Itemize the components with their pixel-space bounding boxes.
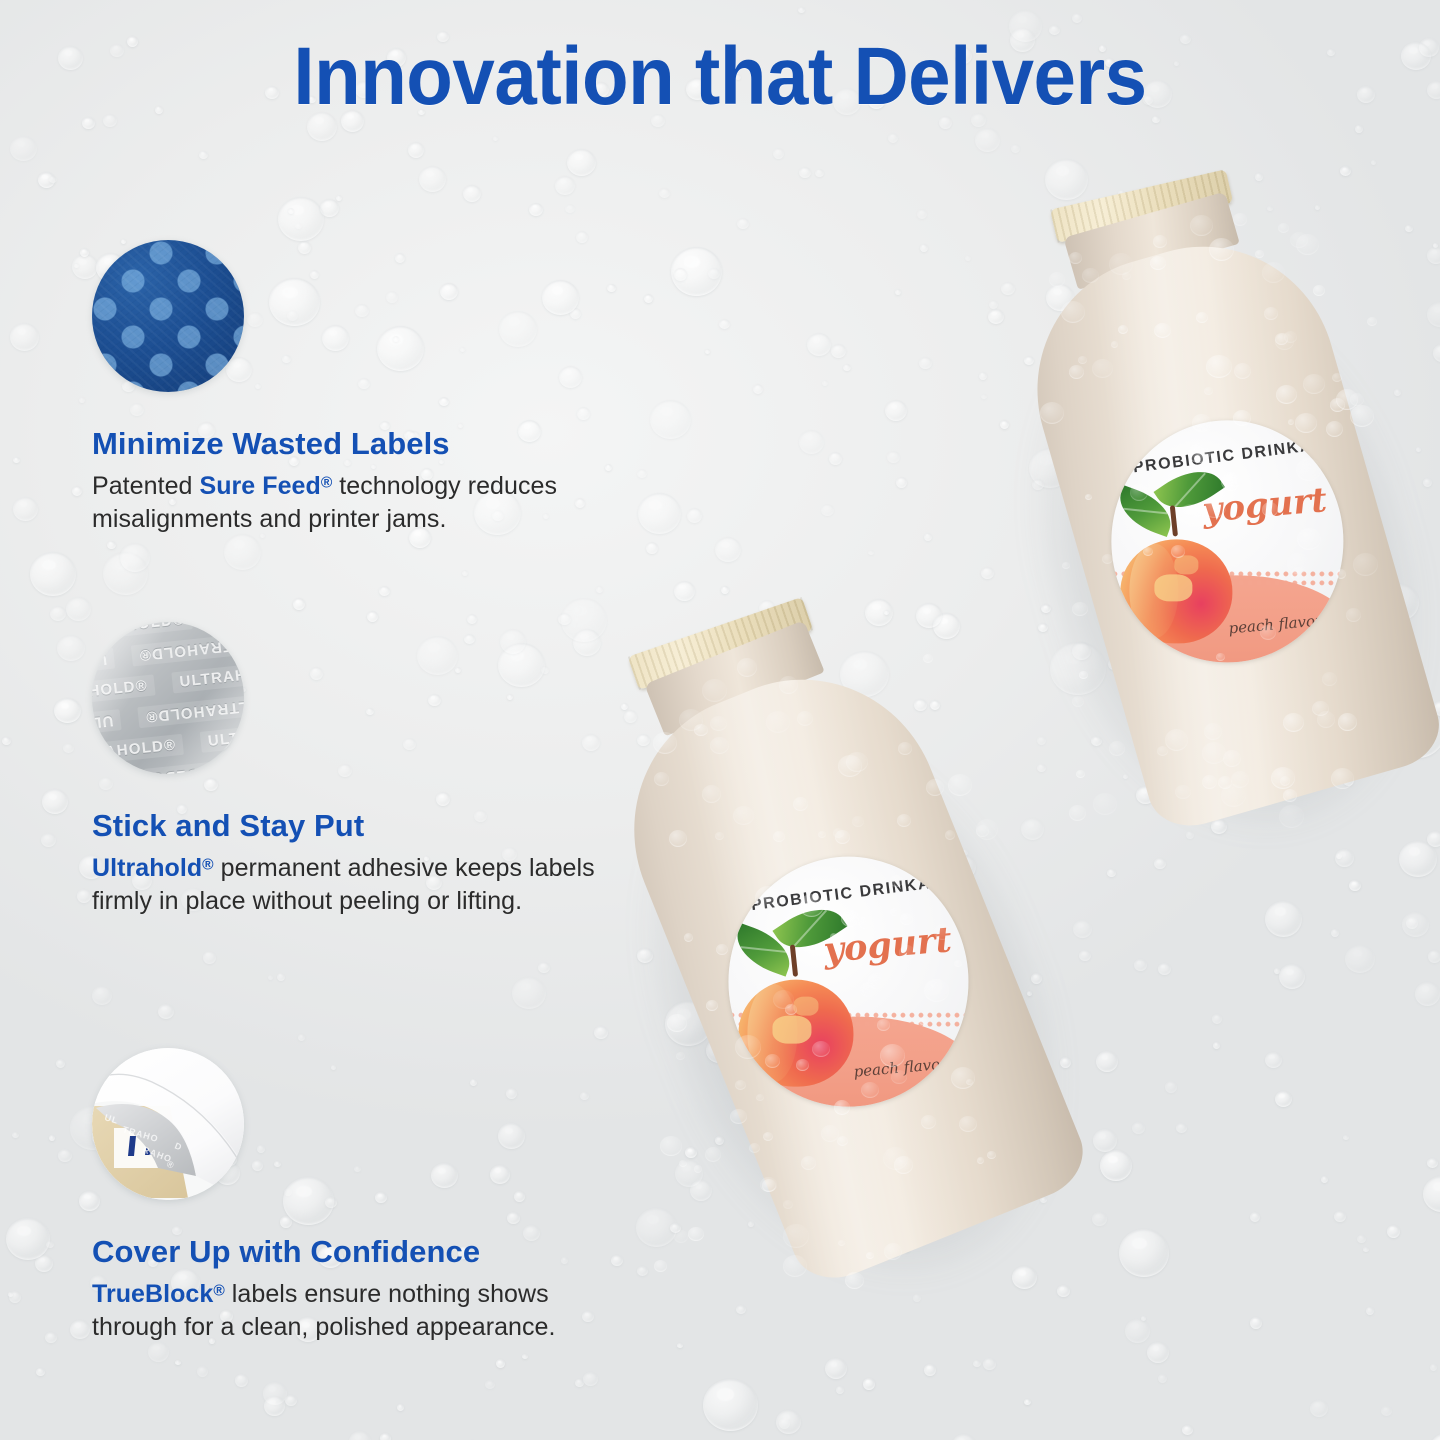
texture-overlay bbox=[92, 240, 244, 392]
feature-body: Ultrahold® permanent adhesive keeps labe… bbox=[92, 852, 622, 919]
peach-fruit bbox=[1121, 539, 1232, 643]
label-top-line: PROBIOTIC DRINKABLE bbox=[1132, 435, 1330, 477]
water-droplet bbox=[148, 1342, 169, 1362]
water-droplet bbox=[1279, 964, 1305, 989]
water-droplet bbox=[1250, 1317, 1262, 1329]
water-droplet bbox=[674, 268, 687, 281]
water-droplet bbox=[1433, 344, 1440, 362]
water-droplet bbox=[408, 142, 424, 158]
water-droplet bbox=[1416, 447, 1421, 452]
water-droplet bbox=[596, 586, 603, 593]
brand-name: TrueBlock bbox=[92, 1280, 213, 1308]
registered-mark: ® bbox=[213, 1282, 224, 1299]
water-droplet bbox=[1275, 1091, 1292, 1107]
water-droplet bbox=[1334, 1211, 1346, 1222]
water-droplet bbox=[1072, 13, 1082, 23]
peel-illustration: UL TRAHO RAHO ® D bbox=[92, 1048, 244, 1200]
water-droplet bbox=[821, 504, 834, 516]
water-droplet bbox=[703, 1379, 758, 1431]
water-droplet bbox=[10, 323, 39, 351]
water-droplet bbox=[54, 698, 81, 723]
water-droplet bbox=[1371, 160, 1376, 165]
water-droplet bbox=[1366, 1307, 1374, 1315]
water-droplet bbox=[843, 364, 851, 371]
water-droplet bbox=[158, 1004, 174, 1019]
water-droplet bbox=[278, 197, 324, 241]
water-droplet bbox=[705, 349, 710, 354]
water-droplet bbox=[896, 477, 907, 488]
water-droplet bbox=[895, 289, 901, 295]
water-droplet bbox=[320, 199, 339, 217]
water-droplet bbox=[295, 223, 302, 229]
water-droplet bbox=[575, 1379, 584, 1387]
peach-stem bbox=[789, 944, 797, 976]
brand-name: Sure Feed bbox=[199, 472, 320, 500]
water-droplet bbox=[529, 203, 543, 216]
water-droplet bbox=[46, 1241, 54, 1248]
water-droplet bbox=[836, 1386, 844, 1394]
water-droplet bbox=[1134, 959, 1147, 971]
water-droplet bbox=[1250, 1212, 1260, 1222]
water-droplet bbox=[107, 541, 116, 549]
poster-canvas: Innovation that Delivers Minimize Wasted… bbox=[0, 0, 1440, 1440]
water-droplet bbox=[1406, 917, 1418, 929]
water-droplet bbox=[888, 133, 898, 143]
water-droplet bbox=[677, 1343, 683, 1348]
water-droplet bbox=[715, 537, 741, 562]
water-droplet bbox=[1045, 159, 1088, 200]
water-droplet bbox=[49, 176, 57, 183]
water-droplet bbox=[776, 1410, 801, 1434]
water-droplet bbox=[199, 151, 208, 159]
water-droplet bbox=[103, 552, 148, 595]
water-droplet bbox=[1125, 1319, 1150, 1343]
water-droplet bbox=[1415, 982, 1440, 1006]
water-droplet bbox=[1430, 1364, 1437, 1371]
water-droplet bbox=[815, 169, 824, 177]
water-droplet bbox=[1265, 1052, 1282, 1068]
water-droplet bbox=[924, 533, 932, 541]
water-droplet bbox=[1073, 920, 1092, 938]
water-droplet bbox=[79, 397, 85, 403]
water-droplet bbox=[671, 247, 722, 296]
ultrahold-liner-icon: ULTRAHOLD®ULTRAHOLD®ULTRAHOLD®ULTRAHOLD®… bbox=[92, 622, 244, 774]
water-droplet bbox=[779, 1418, 790, 1429]
water-droplet bbox=[650, 400, 691, 439]
water-droplet bbox=[1274, 968, 1280, 974]
water-droplet bbox=[56, 1059, 65, 1068]
water-droplet bbox=[1433, 243, 1438, 248]
gloss-overlay bbox=[92, 622, 244, 774]
water-droplet bbox=[1310, 1400, 1328, 1417]
water-droplet bbox=[70, 1320, 90, 1339]
water-droplet bbox=[924, 1364, 936, 1376]
water-droplet bbox=[10, 136, 37, 161]
water-droplet bbox=[1355, 125, 1363, 133]
water-droplet bbox=[175, 1360, 181, 1365]
bottle-water-droplet bbox=[654, 1260, 667, 1272]
water-droplet bbox=[1182, 1425, 1193, 1435]
water-droplet bbox=[565, 204, 575, 213]
water-droplet bbox=[13, 457, 20, 463]
water-droplet bbox=[57, 635, 85, 661]
water-droplet bbox=[1401, 42, 1431, 70]
water-droplet bbox=[522, 1354, 528, 1359]
water-droplet bbox=[1158, 963, 1171, 975]
water-droplet bbox=[1402, 912, 1429, 937]
water-droplet bbox=[35, 1255, 53, 1272]
water-droplet bbox=[1336, 853, 1342, 859]
water-droplet bbox=[419, 166, 446, 192]
water-droplet bbox=[721, 586, 729, 594]
water-droplet bbox=[80, 248, 89, 257]
water-droplet bbox=[737, 218, 749, 229]
water-droplet bbox=[919, 357, 932, 369]
water-droplet bbox=[1158, 1374, 1167, 1383]
water-droplet bbox=[646, 542, 658, 554]
water-droplet bbox=[1212, 1014, 1222, 1024]
water-droplet bbox=[863, 1378, 875, 1390]
water-droplet bbox=[831, 344, 846, 358]
water-droplet bbox=[203, 951, 216, 964]
brand-name: Ultrahold bbox=[92, 854, 202, 882]
water-droplet bbox=[277, 973, 285, 981]
water-droplet bbox=[1363, 1247, 1369, 1252]
water-droplet bbox=[917, 209, 927, 219]
water-droplet bbox=[1387, 1225, 1400, 1238]
water-droplet bbox=[349, 1431, 371, 1440]
water-droplet bbox=[1265, 901, 1302, 937]
page-title: Innovation that Delivers bbox=[50, 34, 1389, 120]
water-droplet bbox=[49, 1135, 55, 1141]
water-droplet bbox=[1037, 764, 1046, 772]
water-droplet bbox=[92, 986, 112, 1005]
water-droplet bbox=[288, 208, 294, 214]
feature-body: Patented Sure Feed® technology reduces m… bbox=[92, 470, 622, 537]
water-droplet bbox=[197, 1366, 208, 1377]
water-droplet bbox=[30, 552, 76, 596]
water-droplet bbox=[1427, 831, 1440, 847]
water-droplet bbox=[659, 188, 670, 198]
water-droplet bbox=[555, 176, 575, 195]
water-droplet bbox=[1165, 1081, 1177, 1093]
water-droplet bbox=[264, 1396, 285, 1416]
water-droplet bbox=[1349, 880, 1361, 891]
water-droplet bbox=[1132, 1122, 1145, 1134]
water-droplet bbox=[74, 263, 79, 268]
water-droplet bbox=[1011, 144, 1020, 153]
feature-block-cover-up-with-confidence: UL TRAHO RAHO ® D Cover Up with Confiden… bbox=[92, 1048, 652, 1345]
bottle-water-droplet bbox=[688, 1227, 704, 1241]
water-droplet bbox=[825, 1358, 847, 1379]
water-droplet bbox=[687, 508, 702, 523]
water-droplet bbox=[753, 384, 763, 394]
drinkable-yogurt-bottle-upper: PROBIOTIC DRINKABLE yogurt peach flavor bbox=[918, 130, 1440, 909]
peach-highlight bbox=[773, 1016, 812, 1044]
water-droplet bbox=[1428, 950, 1440, 963]
water-droplet bbox=[583, 1372, 598, 1386]
peach-stem bbox=[1170, 505, 1178, 536]
water-droplet bbox=[224, 534, 261, 570]
water-droplet bbox=[1427, 247, 1440, 264]
water-droplet bbox=[38, 172, 55, 188]
water-droplet bbox=[379, 586, 390, 596]
water-droplet bbox=[1343, 1135, 1349, 1140]
water-droplet bbox=[1423, 478, 1432, 487]
water-droplet bbox=[1430, 1433, 1440, 1440]
bottle-water-droplet bbox=[674, 1230, 688, 1243]
water-droplet bbox=[367, 611, 378, 622]
water-droplet bbox=[708, 268, 720, 279]
water-droplet bbox=[887, 451, 900, 463]
water-droplet bbox=[933, 613, 960, 639]
water-droplet bbox=[493, 136, 498, 141]
peach-highlight bbox=[1154, 574, 1192, 601]
water-droplet bbox=[6, 1218, 50, 1260]
water-droplet bbox=[13, 497, 38, 521]
water-droplet bbox=[1399, 841, 1437, 877]
water-droplet bbox=[975, 128, 1000, 152]
water-droplet bbox=[1119, 1229, 1169, 1277]
water-droplet bbox=[1381, 1406, 1392, 1416]
water-droplet bbox=[463, 185, 481, 202]
water-droplet bbox=[41, 833, 56, 847]
water-droplet bbox=[799, 430, 824, 454]
water-droplet bbox=[285, 1395, 297, 1406]
water-droplet bbox=[538, 962, 550, 973]
water-droplet bbox=[50, 606, 66, 621]
water-droplet bbox=[298, 1034, 305, 1041]
feature-body: TrueBlock® labels ensure nothing shows t… bbox=[92, 1278, 622, 1345]
water-droplet bbox=[9, 1291, 21, 1303]
water-droplet bbox=[120, 543, 150, 572]
water-droplet bbox=[799, 167, 811, 178]
water-droplet bbox=[670, 1223, 681, 1233]
peach-highlight bbox=[1174, 556, 1198, 575]
water-droplet bbox=[1147, 1342, 1169, 1363]
water-droplet bbox=[773, 148, 784, 159]
water-droplet bbox=[58, 1149, 72, 1162]
water-droplet bbox=[485, 1380, 495, 1389]
water-droplet bbox=[1213, 1042, 1220, 1049]
water-droplet bbox=[1057, 1285, 1070, 1297]
water-droplet bbox=[235, 1374, 248, 1387]
water-droplet bbox=[12, 1132, 19, 1138]
peeling-label-icon: UL TRAHO RAHO ® D bbox=[92, 1048, 244, 1200]
water-droplet bbox=[973, 1360, 981, 1367]
water-droplet bbox=[8, 1292, 13, 1297]
water-droplet bbox=[336, 195, 342, 201]
water-droplet bbox=[1335, 849, 1354, 867]
water-droplet bbox=[674, 581, 695, 601]
feature-heading: Minimize Wasted Labels bbox=[92, 426, 652, 462]
water-droplet bbox=[1345, 945, 1375, 973]
water-droplet bbox=[1024, 1399, 1031, 1405]
label-top-line: PROBIOTIC DRINKABLE bbox=[750, 872, 955, 915]
water-droplet bbox=[72, 486, 82, 496]
water-droplet bbox=[268, 975, 273, 980]
water-droplet bbox=[1405, 225, 1413, 232]
water-droplet bbox=[263, 1382, 287, 1405]
water-droplet bbox=[512, 977, 546, 1009]
product-label: PROBIOTIC DRINKABLE yogurt peach flavor bbox=[1111, 420, 1343, 662]
water-droplet bbox=[1331, 929, 1339, 937]
water-droplet bbox=[567, 149, 596, 176]
water-droplet bbox=[1021, 818, 1044, 840]
water-droplet bbox=[36, 1368, 45, 1376]
water-droplet bbox=[2, 737, 11, 745]
water-droplet bbox=[1340, 166, 1351, 176]
water-droplet bbox=[829, 452, 842, 465]
peach-fruit bbox=[738, 979, 853, 1086]
water-droplet bbox=[1321, 1176, 1328, 1183]
body-seg: Patented bbox=[92, 472, 199, 500]
water-droplet bbox=[594, 1026, 608, 1039]
blue-dotted-texture-icon bbox=[92, 240, 244, 392]
water-droplet bbox=[63, 743, 74, 753]
feature-heading: Cover Up with Confidence bbox=[92, 1234, 652, 1270]
water-droplet bbox=[952, 1434, 976, 1440]
water-droplet bbox=[1423, 1176, 1440, 1212]
water-droplet bbox=[77, 889, 91, 903]
product-label: PROBIOTIC DRINKABLE yogurt peach flavor bbox=[728, 857, 968, 1107]
registered-mark: ® bbox=[321, 474, 332, 491]
water-droplet bbox=[822, 380, 828, 386]
water-droplet bbox=[1357, 1235, 1366, 1243]
water-droplet bbox=[1427, 81, 1440, 99]
water-droplet bbox=[42, 789, 68, 814]
water-droplet bbox=[45, 1332, 57, 1343]
water-droplet bbox=[798, 7, 805, 13]
water-droplet bbox=[496, 1359, 505, 1368]
water-droplet bbox=[293, 598, 305, 610]
water-droplet bbox=[380, 1433, 391, 1440]
water-droplet bbox=[1141, 1316, 1146, 1321]
water-droplet bbox=[885, 400, 907, 421]
water-droplet bbox=[1427, 1158, 1438, 1168]
water-droplet bbox=[1037, 736, 1046, 745]
water-droplet bbox=[983, 1358, 996, 1370]
feature-block-minimize-wasted-labels: Minimize Wasted Labels Patented Sure Fee… bbox=[92, 240, 652, 537]
water-droplet bbox=[1079, 950, 1091, 961]
water-droplet bbox=[1427, 302, 1440, 327]
water-droplet bbox=[66, 597, 91, 621]
peach-highlight bbox=[793, 997, 818, 1016]
water-droplet bbox=[1176, 1123, 1187, 1133]
water-droplet bbox=[397, 1404, 404, 1411]
water-droplet bbox=[1419, 38, 1439, 57]
water-droplet bbox=[719, 319, 730, 329]
water-droplet bbox=[807, 333, 831, 356]
water-droplet bbox=[981, 567, 994, 579]
registered-mark: ® bbox=[202, 856, 213, 873]
water-droplet bbox=[462, 570, 468, 576]
